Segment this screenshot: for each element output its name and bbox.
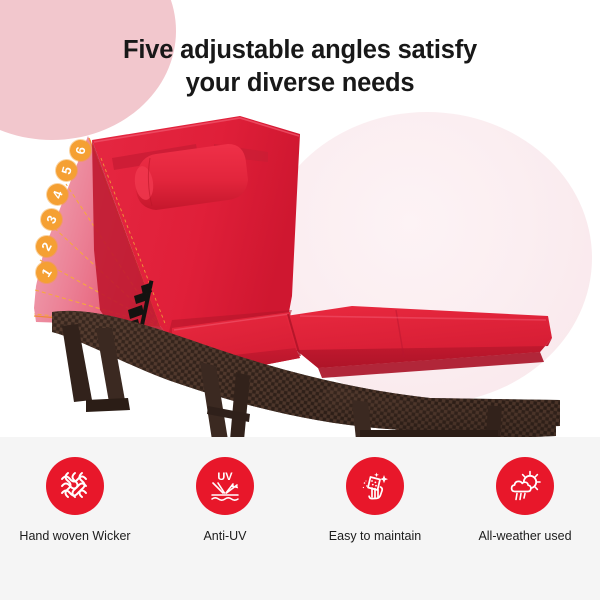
feature-item-easy-to-maintain: Easy to maintain	[305, 457, 445, 543]
product-feature-graphic: Five adjustable angles satisfy your dive…	[0, 0, 600, 600]
feature-label-all-weather-used: All-weather used	[478, 529, 571, 543]
feature-label-hand-woven-wicker: Hand woven Wicker	[19, 529, 130, 543]
woven-wicker-icon	[46, 457, 104, 515]
anti-uv-icon-text: UV	[217, 471, 233, 483]
headline-line-1: Five adjustable angles satisfy	[123, 36, 477, 64]
feature-label-anti-uv: Anti-UV	[203, 529, 246, 543]
headline: Five adjustable angles satisfy your dive…	[0, 34, 600, 100]
feature-item-all-weather-used: All-weather used	[455, 457, 595, 543]
feature-band: Hand woven Wicker UV	[0, 437, 600, 600]
all-weather-icon	[496, 457, 554, 515]
feature-item-anti-uv: UV	[155, 457, 295, 543]
feature-label-easy-to-maintain: Easy to maintain	[329, 529, 421, 543]
headline-line-2: your diverse needs	[0, 67, 600, 100]
easy-to-maintain-icon	[346, 457, 404, 515]
anti-uv-icon: UV	[196, 457, 254, 515]
feature-item-hand-woven-wicker: Hand woven Wicker	[5, 457, 145, 543]
